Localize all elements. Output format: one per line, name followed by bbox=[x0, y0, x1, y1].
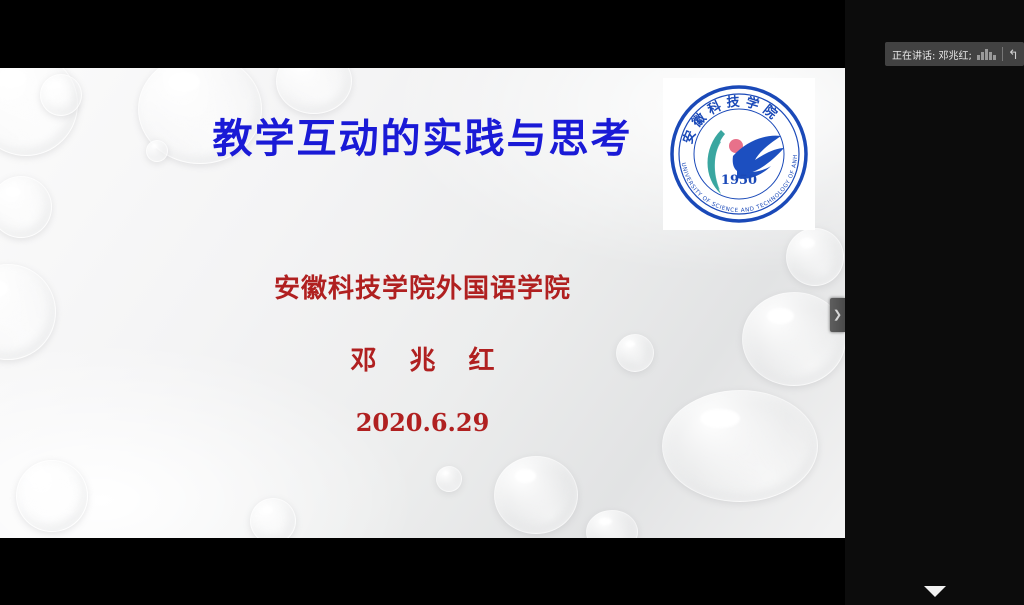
meeting-window: 1950 安徽科技学院 UNIVERSITY OF SCIENCE AND TE… bbox=[0, 0, 1024, 605]
active-speaker-bar: 正在讲话: 邓兆红; ↰ bbox=[885, 42, 1024, 66]
logo-year: 1950 bbox=[721, 173, 757, 188]
back-arrow-icon[interactable]: ↰ bbox=[1008, 48, 1019, 61]
active-speaker-label: 正在讲话: 邓兆红; bbox=[892, 47, 972, 62]
bubble-decoration bbox=[586, 510, 638, 538]
participant-sidebar: 正在讲话: 邓兆红; ↰ 邓兆红的屏幕共享 bbox=[845, 0, 1024, 605]
bubble-decoration bbox=[16, 460, 88, 532]
bubble-decoration bbox=[494, 456, 578, 534]
bubble-decoration bbox=[250, 498, 296, 538]
slide-presenter: 邓 兆 红 bbox=[0, 340, 845, 377]
bubble-decoration bbox=[436, 466, 462, 492]
presentation-slide: 1950 安徽科技学院 UNIVERSITY OF SCIENCE AND TE… bbox=[0, 68, 845, 538]
bubble-decoration bbox=[662, 390, 818, 502]
slide-date: 2020.6.29 bbox=[0, 408, 845, 437]
signal-strength-icon bbox=[977, 49, 996, 60]
slide-organization: 安徽科技学院外国语学院 bbox=[0, 268, 845, 305]
chevron-right-icon[interactable]: ❯ bbox=[830, 298, 845, 332]
shared-screen-stage[interactable]: 1950 安徽科技学院 UNIVERSITY OF SCIENCE AND TE… bbox=[0, 0, 845, 605]
slide-title: 教学互动的实践与思考 bbox=[0, 106, 845, 164]
divider bbox=[1002, 47, 1003, 61]
bubble-decoration bbox=[0, 176, 52, 238]
triangle-down-icon[interactable] bbox=[924, 586, 946, 597]
